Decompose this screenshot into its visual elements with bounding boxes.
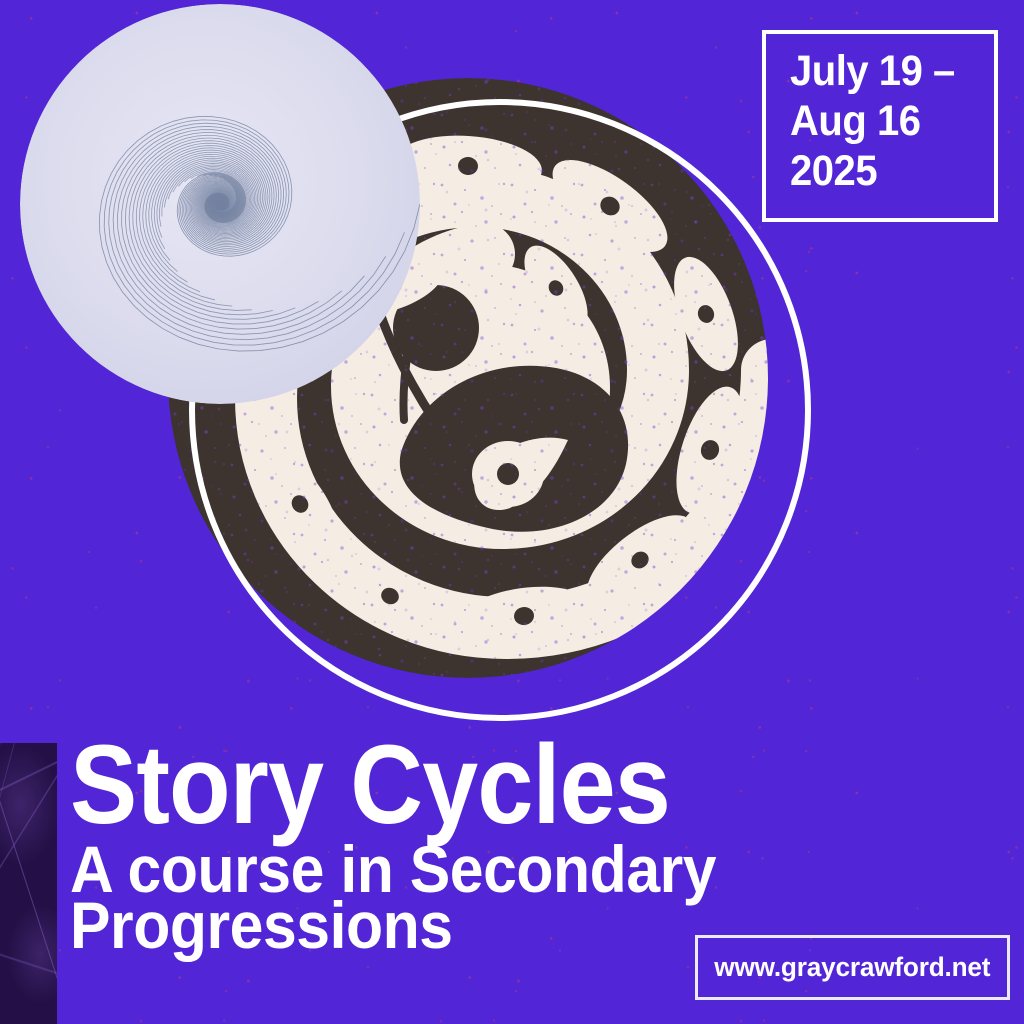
strip-scratch-texture xyxy=(0,743,57,1024)
date-line-1: July 19 – xyxy=(790,46,980,96)
url-badge[interactable]: www.graycrawford.net xyxy=(695,935,1010,1000)
logarithmic-spiral-disc xyxy=(18,2,423,407)
date-badge: July 19 – Aug 16 2025 xyxy=(762,30,998,222)
poster-canvas: July 19 – Aug 16 2025 Story Cycles A cou… xyxy=(0,0,1024,1024)
page-title: Story Cycles xyxy=(70,735,862,835)
date-line-3: 2025 xyxy=(790,146,980,196)
texture-strip xyxy=(0,743,57,1024)
headline-block: Story Cycles A course in Secondary Progr… xyxy=(70,735,950,953)
date-line-2: Aug 16 xyxy=(790,96,980,146)
website-url-text: www.graycrawford.net xyxy=(714,952,990,983)
